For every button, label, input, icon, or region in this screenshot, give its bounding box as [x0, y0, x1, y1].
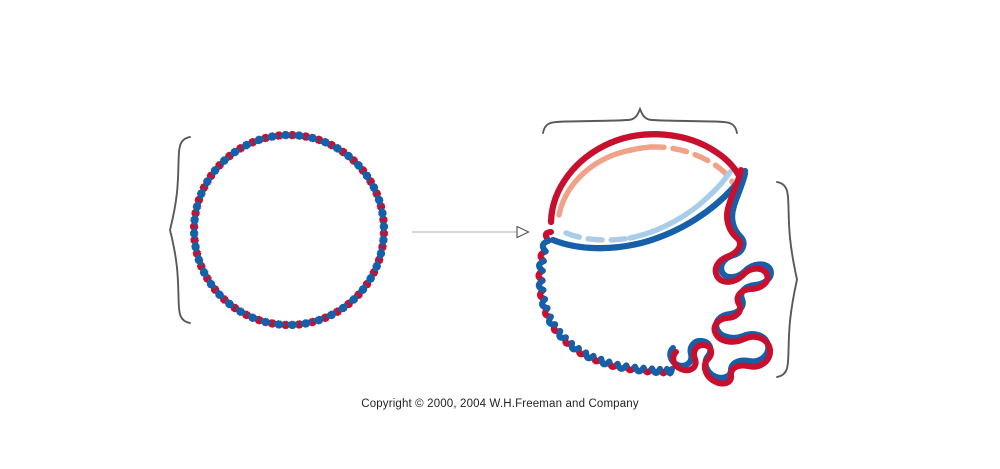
- replication-bubble: [551, 134, 745, 248]
- arc-segment-blue: [549, 317, 555, 325]
- helix-segment-blue: [289, 322, 296, 326]
- arc-segment-blue: [652, 369, 660, 373]
- circular-dna-helix: [193, 134, 385, 326]
- brace-right-icon: [777, 182, 797, 377]
- arc-segment-blue: [572, 343, 579, 349]
- helix-segment-blue: [282, 134, 289, 138]
- left-panel-unreplicated-circle: [170, 134, 385, 326]
- helix-segment-blue: [380, 237, 384, 244]
- daughter-strand-blue-dashed: [566, 233, 630, 240]
- arc-segment-blue: [635, 367, 644, 372]
- helix-segment-blue: [379, 210, 384, 216]
- unreplicated-duplex-arc: [538, 232, 672, 373]
- arc-segment-blue: [618, 364, 627, 369]
- helix-segment-blue: [381, 223, 385, 230]
- arc-segment-blue: [543, 241, 549, 252]
- helix-segment-blue: [296, 135, 303, 139]
- arc-segment-blue: [586, 353, 593, 359]
- helix-segment-blue: [269, 136, 275, 141]
- arc-segment-blue: [539, 261, 544, 271]
- arc-segment-blue: [559, 331, 566, 338]
- helix-segment-blue: [302, 320, 308, 325]
- copyright-notice: Copyright © 2000, 2004 W.H.Freeman and C…: [0, 398, 1000, 410]
- arc-segment-blue: [667, 369, 672, 373]
- right-panel-replicated-dna: [538, 109, 797, 383]
- helix-segment-blue: [276, 321, 283, 325]
- arc-segment-blue: [601, 359, 609, 364]
- brace-top-right-icon: [543, 109, 737, 133]
- figure-root: Copyright © 2000, 2004 W.H.Freeman and C…: [0, 0, 1000, 469]
- arc-segment-blue: [539, 281, 544, 290]
- brace-left-icon: [170, 137, 190, 323]
- daughter-strand-red-solid: [559, 147, 650, 215]
- arc-segment-blue: [542, 299, 547, 308]
- helix-segment-blue: [195, 243, 200, 249]
- helix-segment-blue: [193, 230, 197, 237]
- helix-segment-blue: [194, 217, 198, 224]
